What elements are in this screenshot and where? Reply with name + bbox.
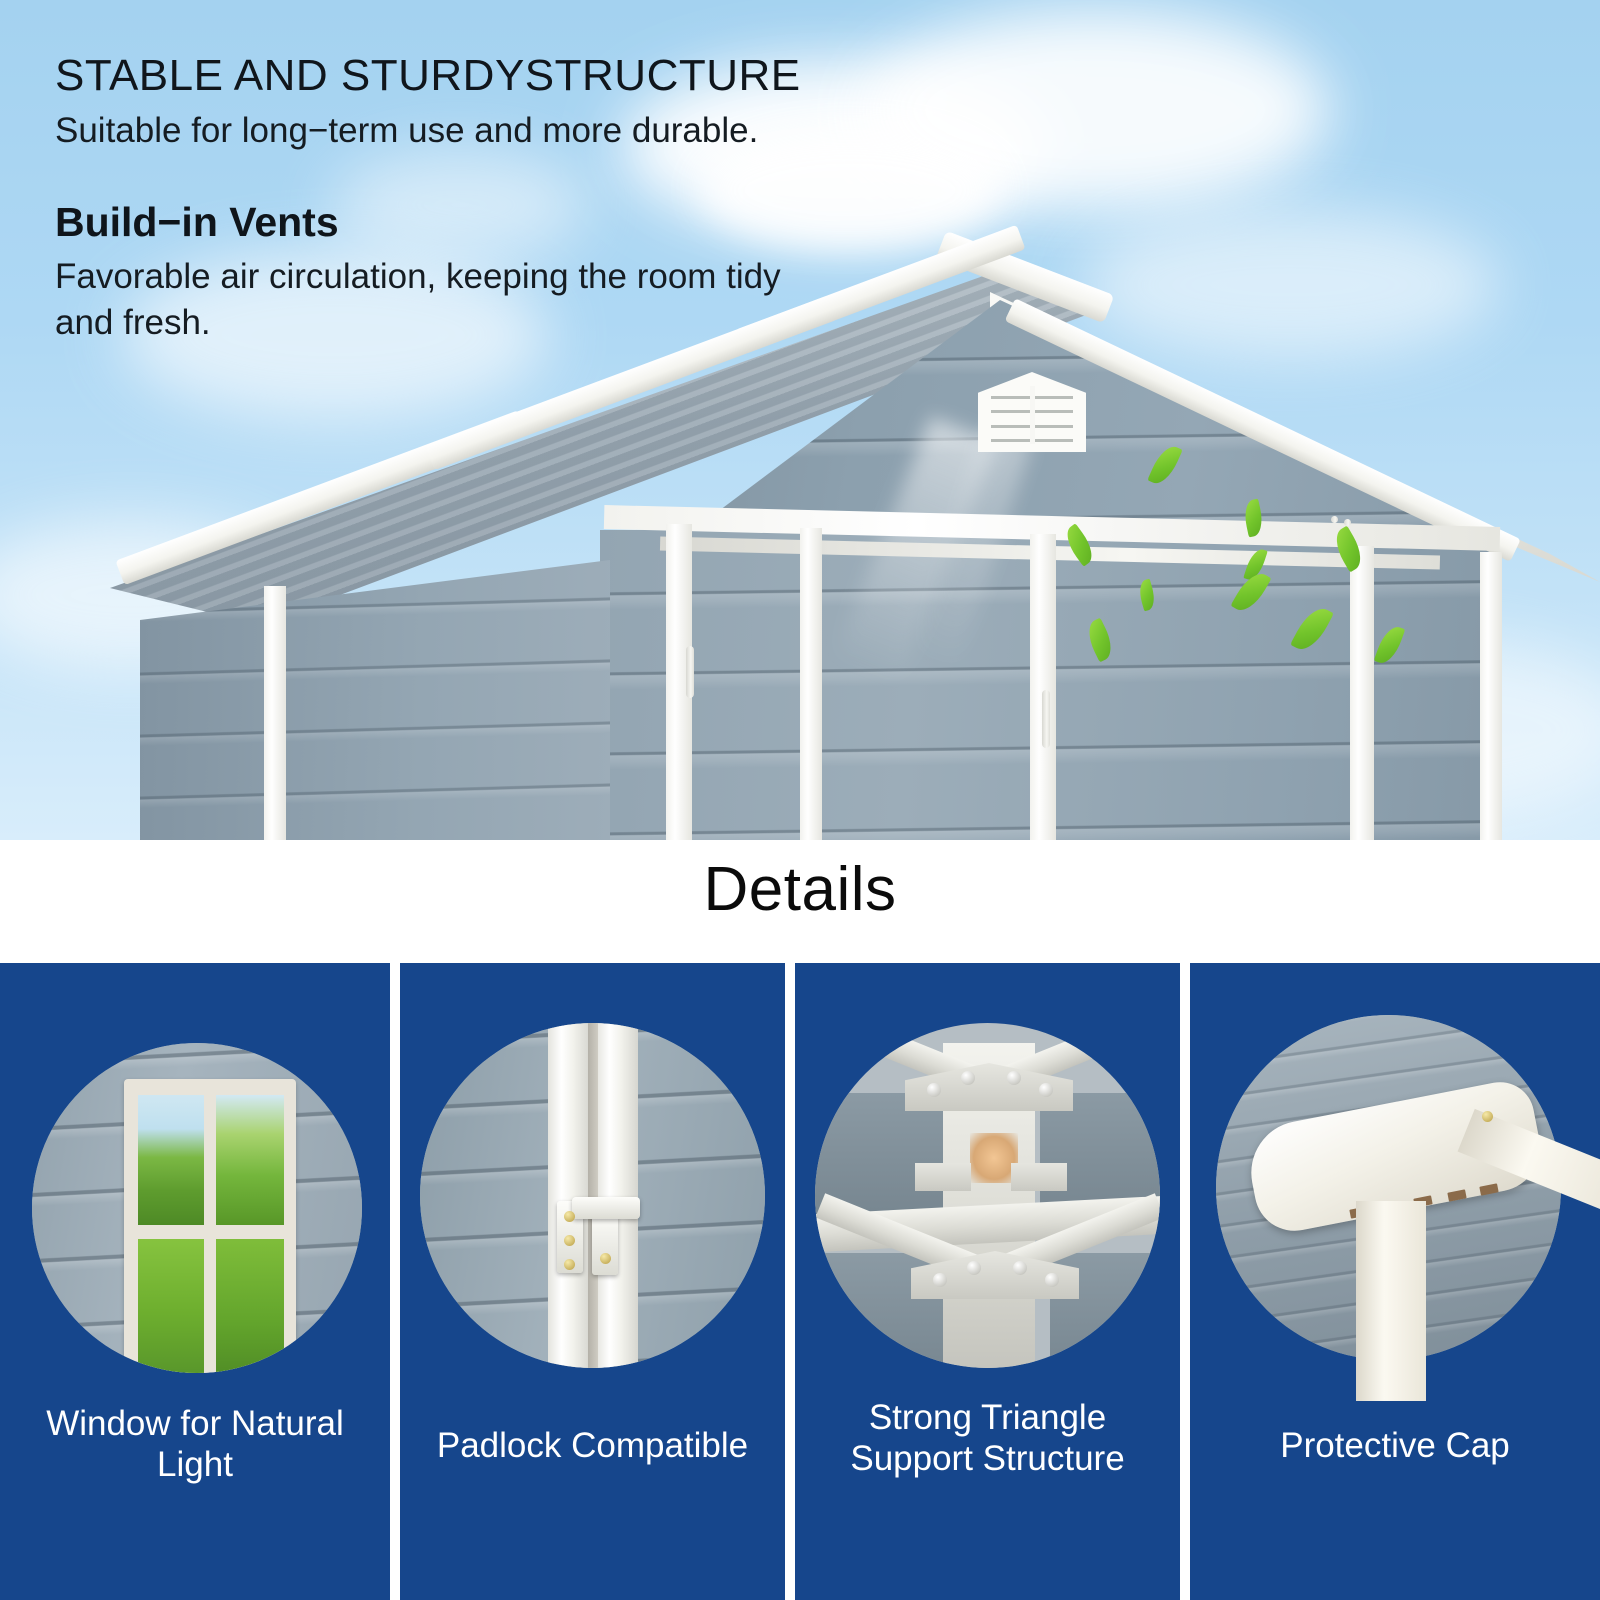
panel-caption: Protective Cap [1198, 1425, 1592, 1466]
details-panel-row: Window for Natural Light Padlock Compati… [0, 963, 1600, 1600]
screw [1482, 1111, 1493, 1122]
truss-bolt [961, 1071, 975, 1085]
panel-caption: Window for Natural Light [8, 1403, 382, 1486]
corner-post-right [1480, 552, 1502, 840]
hasp-plate-right [592, 1213, 618, 1275]
side-bracket [1011, 1163, 1067, 1191]
door-handle-2 [1042, 690, 1050, 748]
side-bracket [915, 1163, 971, 1191]
page-title: Details [0, 854, 1600, 925]
window-pane [138, 1095, 204, 1225]
panel-caption: Strong Triangle Support Structure [803, 1397, 1172, 1480]
window-icon [32, 1043, 362, 1373]
detail-panel-truss[interactable]: Strong Triangle Support Structure [795, 963, 1180, 1600]
screw [564, 1211, 575, 1222]
door-seam [588, 1023, 598, 1368]
truss-bolt [1045, 1273, 1059, 1287]
panel-divider [390, 963, 400, 1600]
truss-bolt [967, 1261, 981, 1275]
truss-bolt [927, 1083, 941, 1097]
door-post [548, 1023, 590, 1368]
door-post-right [1030, 534, 1056, 840]
hero-copy: STABLE AND STURDYSTRUCTURE Suitable for … [55, 52, 815, 346]
subcopy-build-in-vents: Favorable air circulation, keeping the r… [55, 254, 815, 346]
details-band: Details [0, 840, 1600, 963]
panel-caption: Padlock Compatible [408, 1425, 777, 1466]
door-post [596, 1023, 638, 1368]
bracket-screw [1344, 519, 1351, 526]
corner-post-left [264, 586, 286, 840]
screw [564, 1235, 575, 1246]
truss-bolt [1039, 1083, 1053, 1097]
padlock-hasp-icon [420, 1023, 765, 1368]
support-post [1356, 1201, 1426, 1401]
detail-panel-padlock[interactable]: Padlock Compatible [400, 963, 785, 1600]
window-pane [216, 1239, 284, 1373]
hasp-arm [572, 1197, 640, 1219]
door-post-mid [800, 528, 822, 840]
subcopy-stable-structure: Suitable for long−term use and more dura… [55, 108, 815, 154]
bracket-screw [1331, 516, 1338, 523]
headline-build-in-vents: Build−in Vents [55, 199, 815, 246]
window-pane [216, 1095, 284, 1225]
detail-panel-window[interactable]: Window for Natural Light [0, 963, 390, 1600]
screw [564, 1259, 575, 1270]
roof-truss-icon [815, 1023, 1160, 1368]
panel-divider [785, 963, 795, 1600]
truss-bolt [933, 1273, 947, 1287]
screw [600, 1253, 611, 1264]
detail-panel-cap[interactable]: Protective Cap [1190, 963, 1600, 1600]
panel-divider [1180, 963, 1190, 1600]
truss-bolt [1007, 1071, 1021, 1085]
headline-stable-structure: STABLE AND STURDYSTRUCTURE [55, 52, 815, 100]
window-pane [138, 1239, 204, 1373]
door-handle [686, 646, 694, 698]
hero-banner: STABLE AND STURDYSTRUCTURE Suitable for … [0, 0, 1600, 840]
truss-bolt [1013, 1261, 1027, 1275]
wall-post-right [1350, 546, 1374, 840]
